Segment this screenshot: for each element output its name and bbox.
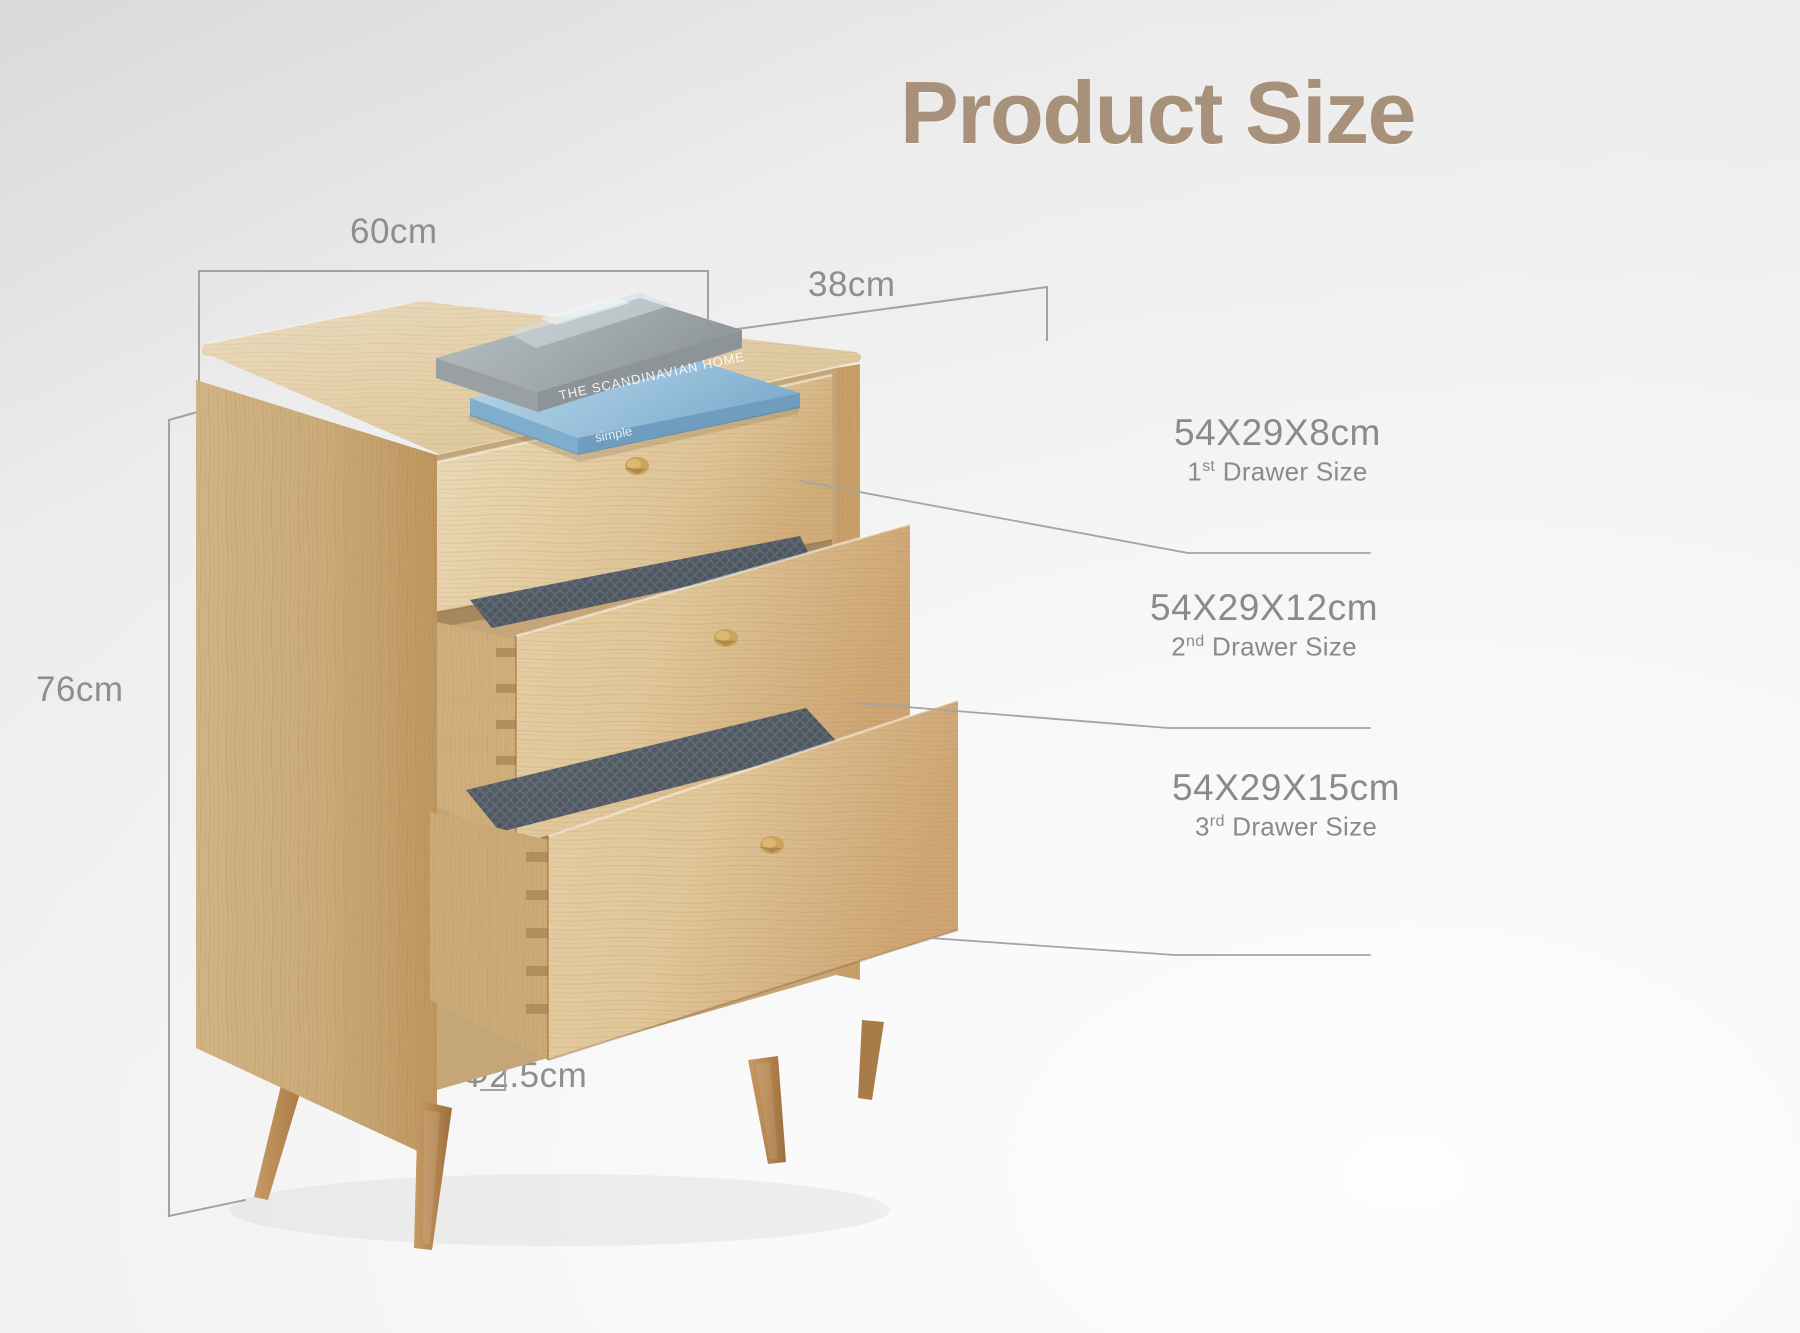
- leader-line-drawer-1: [800, 481, 1370, 553]
- leader-line-drawer-2: [856, 703, 1370, 728]
- leader-line-drawer-3: [930, 938, 1370, 955]
- product-size-infographic: simple THE SCANDINAVIAN HOME Product Siz…: [0, 0, 1800, 1333]
- callout-leader-lines-layer: [0, 0, 1800, 1333]
